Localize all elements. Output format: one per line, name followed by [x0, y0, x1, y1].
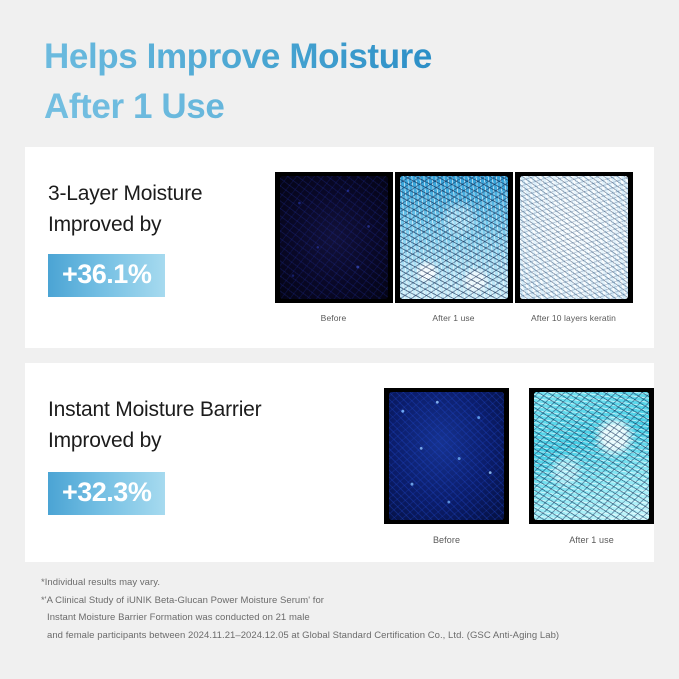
card-2-text-column: Instant Moisture Barrier Improved by +32… — [25, 363, 384, 515]
card-2-title-line-2: Improved by — [48, 425, 384, 456]
footnote-line-3: Instant Moisture Barrier Formation was c… — [41, 609, 641, 627]
card-2-title-line-1: Instant Moisture Barrier — [48, 394, 384, 425]
card-2-image-strip: Before After 1 use — [384, 363, 654, 545]
micro-texture-dark-navy — [280, 176, 388, 299]
card-2-percent-badge: +32.3% — [48, 472, 165, 515]
card-2-image-cell-after-1-use: After 1 use — [529, 388, 654, 545]
card-1-caption-after-10-layers: After 10 layers keratin — [531, 313, 616, 323]
card-2-caption-before: Before — [433, 535, 460, 545]
footnote-line-1: *Individual results may vary. — [41, 574, 641, 592]
footnote-line-2: *'A Clinical Study of iUNIK Beta-Glucan … — [41, 592, 641, 610]
card-1-caption-after-1-use: After 1 use — [432, 313, 474, 323]
micro-texture-blue-granular — [389, 392, 504, 520]
micro-image-after-10-layers-keratin — [515, 172, 633, 303]
footnote-line-4: and female participants between 2024.11.… — [41, 627, 641, 645]
card-1-image-cell-after-10-layers: After 10 layers keratin — [512, 172, 635, 323]
card-1-image-cell-after-1-use: After 1 use — [392, 172, 515, 323]
card-1-text-column: 3-Layer Moisture Improved by +36.1% — [25, 147, 272, 297]
micro-image-after-1-use — [395, 172, 513, 303]
card-1-title-line-1: 3-Layer Moisture — [48, 178, 272, 209]
micro-image-before — [275, 172, 393, 303]
micro-texture-white-fiber — [520, 176, 628, 299]
stat-card-3-layer-moisture: 3-Layer Moisture Improved by +36.1% Befo… — [25, 147, 654, 348]
card-1-image-cell-before: Before — [272, 172, 395, 323]
card-2-caption-after-1-use: After 1 use — [569, 535, 614, 545]
headline-line-2: After 1 Use — [44, 82, 604, 132]
footnotes-block: *Individual results may vary. *'A Clinic… — [41, 574, 641, 644]
card-2-image-cell-before: Before — [384, 388, 509, 545]
micro-image-after-1-use-barrier — [529, 388, 654, 524]
card-1-image-strip: Before After 1 use After 10 layers kerat… — [272, 147, 635, 323]
page-headline: Helps Improve Moisture After 1 Use — [44, 32, 604, 132]
micro-texture-cyan-cell — [400, 176, 508, 299]
stat-card-instant-moisture-barrier: Instant Moisture Barrier Improved by +32… — [25, 363, 654, 562]
micro-image-before-barrier — [384, 388, 509, 524]
micro-texture-turquoise — [534, 392, 649, 520]
card-1-percent-badge: +36.1% — [48, 254, 165, 297]
headline-line-1: Helps Improve Moisture — [44, 32, 604, 82]
card-1-caption-before: Before — [321, 313, 347, 323]
card-1-title-line-2: Improved by — [48, 209, 272, 240]
